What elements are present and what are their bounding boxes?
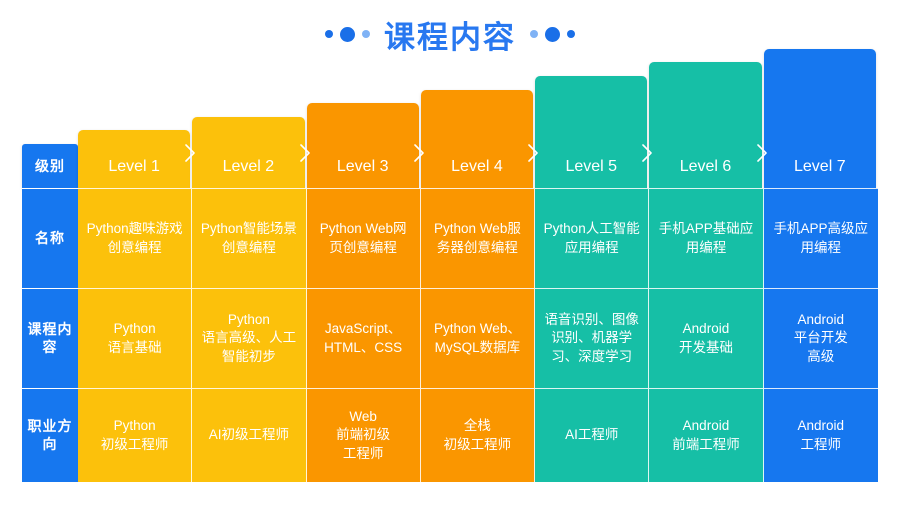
career-path-text: AI初级工程师	[209, 426, 289, 444]
table-row-name: 名称 Python趣味游戏创意编程Python智能场景创意编程Python We…	[22, 188, 878, 288]
course-content-text: 语音识别、图像识别、机器学习、深度学习	[542, 311, 641, 366]
row-label-content: 课程内容	[22, 288, 78, 388]
course-name-text: Python趣味游戏创意编程	[85, 220, 184, 256]
level-header-5[interactable]: Level 5	[535, 76, 647, 188]
course-content-text: JavaScript、HTML、CSS	[314, 320, 413, 356]
course-name-text: Python Web网页创意编程	[314, 220, 413, 256]
career-path-cell: AI初级工程师	[192, 388, 306, 482]
decorative-dot-icon	[340, 27, 355, 42]
table-body: 名称 Python趣味游戏创意编程Python智能场景创意编程Python We…	[22, 188, 878, 482]
career-path-text: Web 前端初级 工程师	[336, 408, 390, 463]
course-content-text: Python Web、MySQL数据库	[428, 320, 527, 356]
step-arrow-icon	[414, 144, 425, 162]
level-header-3[interactable]: Level 3	[307, 103, 419, 188]
decorative-dot-icon	[567, 30, 575, 38]
career-path-cell: 全栈 初级工程师	[421, 388, 535, 482]
step-arrow-icon	[528, 144, 539, 162]
course-content-cell: Python 语言基础	[78, 288, 192, 388]
row-label-level: 级别	[22, 144, 78, 188]
course-name-cell: Python智能场景创意编程	[192, 188, 306, 288]
level-header-4[interactable]: Level 4	[421, 90, 533, 188]
level-header-7[interactable]: Level 7	[764, 49, 876, 188]
decorative-dot-icon	[545, 27, 560, 42]
page-title: 课程内容	[384, 12, 516, 57]
row-label-career: 职业方向	[22, 388, 78, 482]
title-dots-left	[325, 27, 370, 42]
table-row-career: 职业方向 Python 初级工程师AI初级工程师Web 前端初级 工程师全栈 初…	[22, 388, 878, 482]
course-name-cell: 手机APP高级应用编程	[764, 188, 878, 288]
title-dots-right	[530, 27, 575, 42]
career-path-cell: Android 工程师	[764, 388, 878, 482]
table-row-content: 课程内容 Python 语言基础Python 语言高级、人工智能初步JavaSc…	[22, 288, 878, 388]
course-content-text: Android 平台开发 高级	[794, 311, 848, 366]
course-content-cell: 语音识别、图像识别、机器学习、深度学习	[535, 288, 649, 388]
course-name-cell: Python趣味游戏创意编程	[78, 188, 192, 288]
level-header-1[interactable]: Level 1	[78, 130, 190, 188]
level-header-label: Level 5	[565, 158, 617, 176]
course-content-text: Android 开发基础	[679, 320, 733, 356]
level-header-label: Level 6	[680, 158, 732, 176]
career-path-cell: AI工程师	[535, 388, 649, 482]
course-content-cell: Android 开发基础	[649, 288, 763, 388]
level-header-row: 级别 Level 1Level 2Level 3Level 4Level 5Le…	[22, 62, 878, 188]
career-path-text: Android 前端工程师	[672, 417, 740, 453]
career-path-cell: Android 前端工程师	[649, 388, 763, 482]
decorative-dot-icon	[530, 30, 538, 38]
course-content-cell: Android 平台开发 高级	[764, 288, 878, 388]
course-name-cell: Python人工智能应用编程	[535, 188, 649, 288]
level-header-6[interactable]: Level 6	[649, 62, 761, 188]
career-path-cell: Web 前端初级 工程师	[307, 388, 421, 482]
course-name-cell: 手机APP基础应用编程	[649, 188, 763, 288]
course-content-cell: JavaScript、HTML、CSS	[307, 288, 421, 388]
step-arrow-icon	[300, 144, 311, 162]
level-header-2[interactable]: Level 2	[192, 117, 304, 188]
level-header-label: Level 7	[794, 158, 846, 176]
step-arrow-icon	[642, 144, 653, 162]
step-arrow-icon	[185, 144, 196, 162]
decorative-dot-icon	[325, 30, 333, 38]
course-name-text: Python Web服务器创意编程	[428, 220, 527, 256]
course-name-text: 手机APP基础应用编程	[656, 220, 755, 256]
career-path-text: Python 初级工程师	[101, 417, 169, 453]
course-name-text: Python智能场景创意编程	[199, 220, 298, 256]
curriculum-table: 级别 Level 1Level 2Level 3Level 4Level 5Le…	[22, 62, 878, 488]
course-name-cell: Python Web服务器创意编程	[421, 188, 535, 288]
course-content-cell: Python Web、MySQL数据库	[421, 288, 535, 388]
course-name-cell: Python Web网页创意编程	[307, 188, 421, 288]
career-path-text: 全栈 初级工程师	[444, 417, 512, 453]
step-arrow-icon	[757, 144, 768, 162]
course-content-cell: Python 语言高级、人工智能初步	[192, 288, 306, 388]
course-content-text: Python 语言高级、人工智能初步	[199, 311, 298, 366]
career-path-text: Android 工程师	[797, 417, 844, 453]
level-header-label: Level 4	[451, 158, 503, 176]
course-name-text: 手机APP高级应用编程	[771, 220, 871, 256]
career-path-cell: Python 初级工程师	[78, 388, 192, 482]
course-content-text: Python 语言基础	[108, 320, 162, 356]
career-path-text: AI工程师	[565, 426, 618, 444]
level-header-label: Level 3	[337, 158, 389, 176]
row-label-name: 名称	[22, 188, 78, 288]
level-header-label: Level 1	[108, 158, 160, 176]
decorative-dot-icon	[362, 30, 370, 38]
level-header-label: Level 2	[223, 158, 275, 176]
course-name-text: Python人工智能应用编程	[542, 220, 641, 256]
